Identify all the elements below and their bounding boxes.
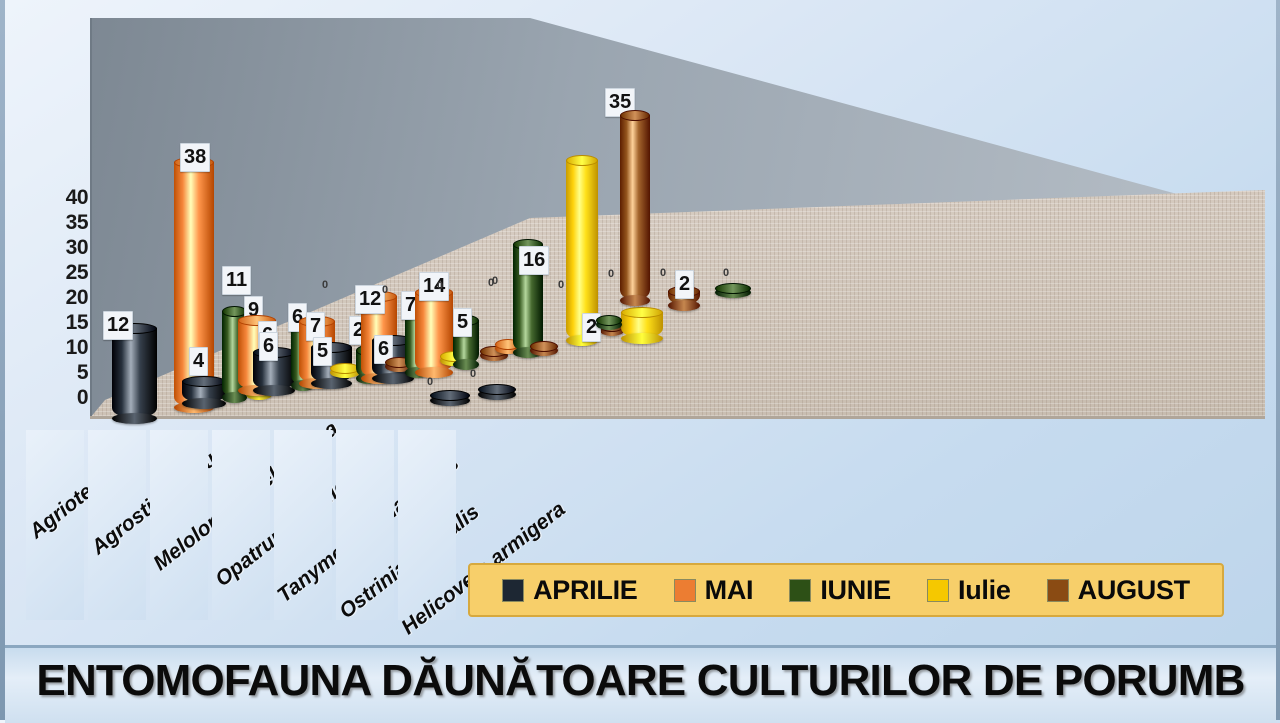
- legend-item-iulie[interactable]: Iulie: [927, 575, 1011, 606]
- bar-top-ellipse: [566, 155, 598, 166]
- bar-top-ellipse: [620, 110, 650, 121]
- data-label: 0: [322, 280, 328, 291]
- data-label: 0: [608, 269, 614, 280]
- bar-body: [620, 115, 650, 300]
- bar-top-ellipse: [530, 341, 558, 352]
- data-label: 0: [723, 268, 729, 279]
- bar-base-ellipse: [253, 385, 295, 396]
- title-bar: ENTOMOFAUNA DĂUNĂTOARE CULTURILOR DE POR…: [5, 645, 1276, 723]
- chart-wall-edge: [90, 18, 92, 418]
- bar-iunie2-cat6: [596, 320, 622, 324]
- category-label-box: [212, 430, 270, 620]
- legend-item-mai[interactable]: MAI: [674, 575, 754, 606]
- legend-label: Iulie: [958, 575, 1011, 606]
- legend-label: AUGUST: [1078, 575, 1190, 606]
- bar-augustb-cat6: [620, 115, 650, 300]
- bar-top-ellipse: [621, 307, 663, 318]
- chart-floor-front-edge: [90, 416, 1265, 419]
- bar-aprilie-cat0: [112, 328, 157, 418]
- y-axis: 4035302520151050: [36, 185, 88, 410]
- y-axis-tick: 15: [36, 310, 88, 335]
- legend-label: MAI: [705, 575, 754, 606]
- bar-top-ellipse: [596, 315, 622, 326]
- bar-aprilie-cat5: [478, 389, 516, 394]
- bar-iunie3-cat6: [715, 288, 751, 292]
- bar-body: [112, 328, 157, 418]
- y-axis-tick: 0: [36, 385, 88, 410]
- y-axis-tick: 25: [36, 260, 88, 285]
- y-axis-tick: 40: [36, 185, 88, 210]
- data-label: 6: [259, 332, 278, 361]
- y-axis-tick: 20: [36, 285, 88, 310]
- category-axis-labels: Agriotes sppAgrostis segetumMelolontha M…: [18, 424, 508, 629]
- chart-title: ENTOMOFAUNA DĂUNĂTOARE CULTURILOR DE POR…: [5, 656, 1276, 706]
- data-label: 0: [492, 276, 498, 287]
- data-label: 0: [558, 280, 564, 291]
- legend-swatch-icon: [927, 579, 949, 602]
- data-label: 38: [180, 143, 210, 172]
- chart-legend: APRILIEMAIIUNIEIulieAUGUST: [468, 563, 1224, 617]
- y-axis-tick: 10: [36, 335, 88, 360]
- bar-base-ellipse: [621, 333, 663, 344]
- y-axis-tick: 5: [36, 360, 88, 385]
- data-label: 12: [103, 311, 133, 340]
- legend-item-august[interactable]: AUGUST: [1047, 575, 1190, 606]
- legend-item-aprilie[interactable]: APRILIE: [502, 575, 637, 606]
- bar-base-ellipse: [112, 413, 157, 424]
- data-label: 16: [519, 246, 549, 275]
- y-axis-tick: 30: [36, 235, 88, 260]
- legend-label: APRILIE: [533, 575, 637, 606]
- bar-base-ellipse: [311, 378, 352, 389]
- legend-label: IUNIE: [820, 575, 891, 606]
- data-label: 5: [313, 337, 332, 366]
- data-label: 12: [355, 285, 385, 314]
- data-label: 0: [382, 285, 388, 296]
- data-label: 2: [675, 270, 694, 299]
- bar-base-ellipse: [182, 398, 226, 409]
- bar-aprilie-cat4: [430, 395, 470, 400]
- bar-august-cat0: [182, 381, 226, 403]
- bar-maib-cat6: [621, 312, 663, 338]
- bar-top-ellipse: [478, 384, 516, 395]
- data-label: 0: [437, 281, 443, 292]
- bar-top-ellipse: [715, 283, 751, 294]
- data-label: 0: [427, 377, 433, 388]
- legend-swatch-icon: [789, 579, 811, 602]
- legend-swatch-icon: [1047, 579, 1069, 602]
- data-label: 14: [419, 272, 449, 301]
- data-label: 5: [453, 308, 472, 337]
- bar-base-ellipse: [668, 300, 700, 311]
- data-label: 0: [470, 369, 476, 380]
- bar-top-ellipse: [182, 376, 226, 387]
- bar-top-ellipse: [430, 390, 470, 401]
- bar-august-cat6: [530, 346, 558, 350]
- y-axis-tick: 35: [36, 210, 88, 235]
- bar-base-ellipse: [415, 367, 453, 378]
- legend-item-iunie[interactable]: IUNIE: [789, 575, 891, 606]
- bar-base-ellipse: [620, 295, 650, 306]
- legend-swatch-icon: [674, 579, 696, 602]
- data-label: 4: [189, 347, 208, 376]
- data-label: 11: [222, 266, 251, 295]
- legend-swatch-icon: [502, 579, 524, 602]
- data-label: 0: [660, 268, 666, 279]
